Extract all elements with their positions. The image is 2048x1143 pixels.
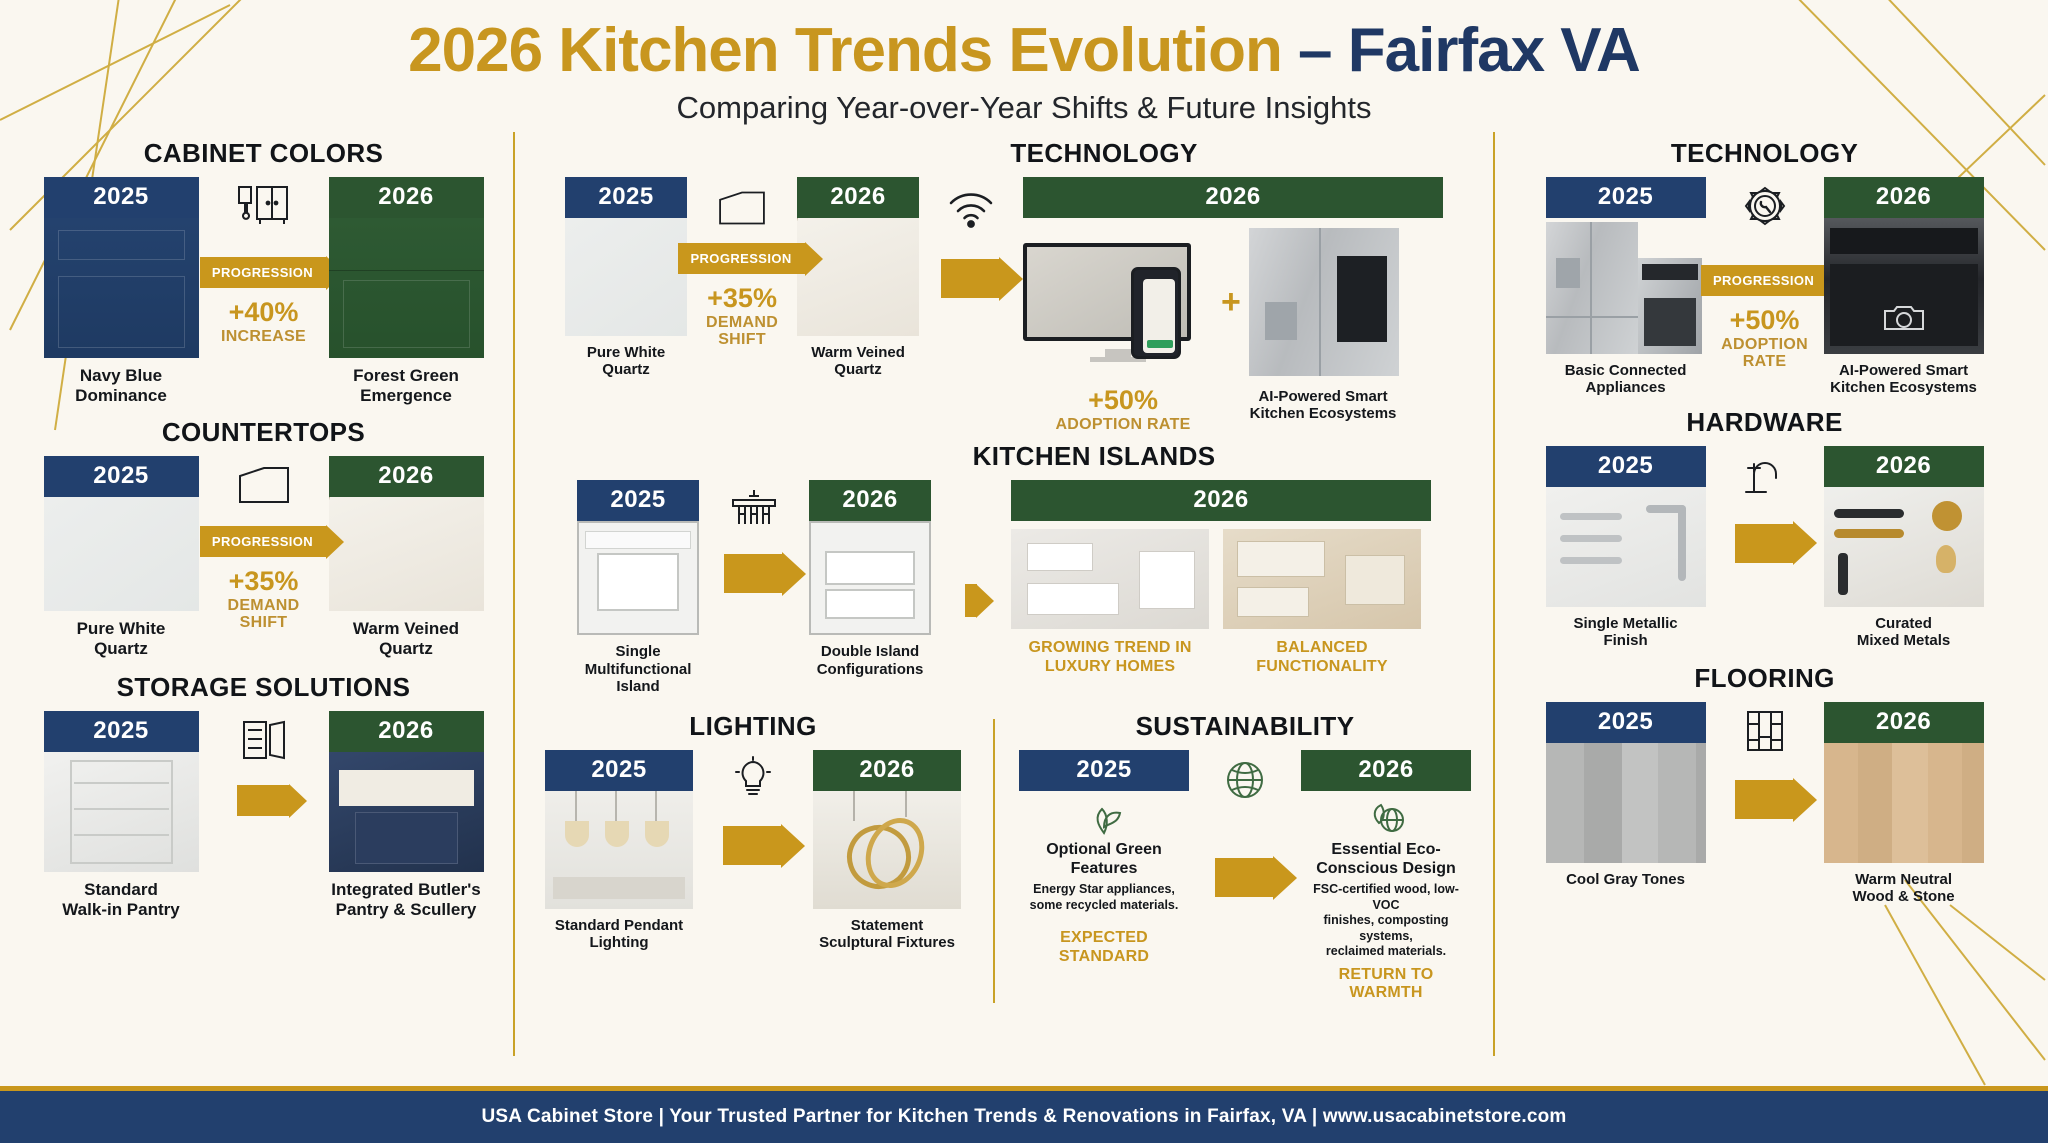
year-chip-2026: 2026 — [1023, 177, 1443, 218]
lighting-2025-panel: 2025 Standard Pendan — [545, 750, 693, 952]
lighting-2026-panel: 2026 Statement Sculptural Fixtures — [813, 750, 961, 952]
year-chip-2026: 2026 — [329, 456, 484, 497]
sustainability-2026-detail: FSC-certified wood, low-VOC finishes, co… — [1301, 882, 1471, 960]
island-2026-wide-panel: 2026 — [1011, 480, 1431, 676]
navy-cabinet-swatch — [44, 218, 199, 358]
progression-arrow-plain — [723, 826, 783, 865]
section-title-flooring: FLOORING — [1503, 663, 2026, 694]
section-title-kitchen-islands: KITCHEN ISLANDS — [703, 441, 1485, 472]
island-2026-panel: 2026 Double Island Configurations — [809, 480, 931, 678]
pure-white-quartz-swatch — [44, 497, 199, 611]
lighting-2025-caption: Standard Pendant Lighting — [545, 917, 693, 952]
countertop-slab-icon — [714, 177, 770, 229]
cabinet-2025-caption: Navy Blue Dominance — [44, 366, 199, 405]
year-chip-2026: 2026 — [1824, 702, 1984, 743]
storage-2025-caption: Standard Walk-in Pantry — [44, 880, 199, 919]
page-title-location: – Fairfax VA — [1298, 16, 1640, 85]
section-lighting: LIGHTING 2025 — [523, 705, 983, 1003]
page-title-main: 2026 Kitchen Trends Evolution — [408, 16, 1298, 85]
hardware-2026-caption: Curated Mixed Metals — [1824, 615, 1984, 650]
column-left: CABINET COLORS 2025 Navy Blue Dominance — [14, 132, 513, 1056]
section-title-technology-middle: TECHNOLOGY — [723, 138, 1485, 169]
section-title-technology-right: TECHNOLOGY — [1503, 138, 2026, 169]
storage-progression — [199, 711, 329, 816]
row-lighting-sustainability: LIGHTING 2025 — [523, 705, 1485, 1003]
tech-right-2026-panel: 2026 AI-Powered Smart — [1824, 177, 1984, 397]
hardware-2025-caption: Single Metallic Finish — [1546, 615, 1706, 650]
footer-text: USA Cabinet Store | Your Trusted Partner… — [482, 1106, 1567, 1128]
storage-2025-panel: 2025 Standard Walk-in Pantry — [44, 711, 199, 919]
tech-mid-2026b-caption: AI-Powered Smart Kitchen Ecosystems — [1223, 388, 1423, 433]
cabinet-progression: PROGRESSION +40% INCREASE — [199, 177, 329, 345]
plus-sign: + — [1221, 285, 1241, 319]
countertop-2026-panel: 2026 Warm Veined Quartz — [329, 456, 484, 658]
year-chip-2026: 2026 — [813, 750, 961, 791]
tech-right-2026-caption: AI-Powered Smart Kitchen Ecosystems — [1824, 362, 1984, 397]
island-progression-1 — [699, 480, 809, 593]
tech-right-progression: PROGRESSION +50% ADOPTION RATE — [1706, 177, 1824, 371]
leaf-globe-icon — [1301, 801, 1471, 835]
progression-arrow-plain — [237, 785, 289, 816]
warm-veined-quartz-swatch — [329, 497, 484, 611]
section-title-hardware: HARDWARE — [1503, 407, 2026, 438]
progression-arrow: PROGRESSION — [200, 526, 327, 557]
tech-mid-2026b-panel: 2026 + — [1023, 177, 1443, 433]
section-technology-middle: TECHNOLOGY 2025 Pure White Quartz — [523, 138, 1485, 433]
section-flooring: FLOORING 2025 Cool Gray Tones — [1503, 663, 2026, 906]
leaf-icon — [1019, 801, 1189, 835]
pantry-door-icon — [238, 711, 290, 763]
progression-arrow: PROGRESSION — [678, 243, 805, 274]
tech-right-2025-caption: Basic Connected Appliances — [1546, 362, 1706, 397]
section-title-sustainability: SUSTAINABILITY — [1005, 711, 1485, 742]
butlers-pantry-image — [329, 752, 484, 872]
sculptural-fixture-image — [813, 791, 961, 909]
sustainability-2025-panel: 2025 Optional Green Features — [1019, 750, 1189, 966]
lightbulb-icon — [730, 750, 776, 802]
tech-mid-adoption-stat: +50% ADOPTION RATE — [1023, 386, 1223, 433]
storage-2026-panel: 2026 Integrated Butler's Pantry & Sculle… — [329, 711, 484, 919]
hardware-2026-panel: 2026 Curated Mixed Metals — [1824, 446, 1984, 650]
range-oven-image — [1638, 258, 1702, 354]
tech-mid-2026a-caption: Warm Veined Quartz — [797, 344, 919, 379]
countertop-2025-caption: Pure White Quartz — [44, 619, 199, 658]
luxury-kitchen-render-b — [1223, 529, 1421, 629]
flooring-2025-caption: Cool Gray Tones — [1546, 871, 1706, 888]
infographic-body: CABINET COLORS 2025 Navy Blue Dominance — [0, 126, 2048, 1056]
hardware-2025-panel: 2025 Single Metallic Finish — [1546, 446, 1706, 650]
year-chip-2025: 2025 — [545, 750, 693, 791]
year-chip-2025: 2025 — [1546, 446, 1706, 487]
section-hardware: HARDWARE 2025 Single Metallic — [1503, 407, 2026, 650]
column-middle: TECHNOLOGY 2025 Pure White Quartz — [513, 132, 1495, 1056]
year-chip-2025: 2025 — [44, 711, 199, 752]
progression-arrow-plain — [724, 554, 784, 593]
tech-right-stat: +50% ADOPTION RATE — [1721, 306, 1808, 371]
lighting-progression — [693, 750, 813, 865]
smart-wall-oven-image — [1824, 218, 1984, 354]
section-kitchen-islands: KITCHEN ISLANDS 2025 Single Multifunctio… — [523, 441, 1485, 695]
sustainability-2025-detail: Energy Star appliances, some recycled ma… — [1019, 882, 1189, 913]
progression-arrow: PROGRESSION — [1701, 265, 1828, 296]
flooring-2025-panel: 2025 Cool Gray Tones — [1546, 702, 1706, 888]
cabinet-2026-panel: 2026 Forest Green Emergence — [329, 177, 484, 405]
progression-arrow: PROGRESSION — [200, 257, 327, 288]
warm-veined-quartz-swatch — [797, 218, 919, 336]
year-chip-2026: 2026 — [1301, 750, 1471, 791]
countertop-progression: PROGRESSION +35% DEMAND SHIFT — [199, 456, 329, 632]
year-chip-2026: 2026 — [329, 177, 484, 218]
column-right: TECHNOLOGY 2025 — [1495, 132, 2034, 1056]
smart-fridge-image — [1249, 228, 1399, 376]
luxury-kitchen-render-a — [1011, 529, 1209, 629]
tech-mid-progression-1: PROGRESSION +35% DEMAND SHIFT — [687, 177, 797, 349]
paintbrush-cabinet-icon — [235, 177, 293, 229]
year-chip-2025: 2025 — [565, 177, 687, 218]
year-chip-2025: 2025 — [1546, 177, 1706, 218]
page-title: 2026 Kitchen Trends Evolution – Fairfax … — [0, 18, 2048, 83]
year-chip-2025: 2025 — [44, 456, 199, 497]
year-chip-2026: 2026 — [1011, 480, 1431, 521]
walk-in-pantry-image — [44, 752, 199, 872]
pure-white-quartz-swatch — [565, 218, 687, 336]
year-chip-2026: 2026 — [1824, 177, 1984, 218]
progression-arrow-plain — [1215, 858, 1275, 897]
island-2026-caption: Double Island Configurations — [809, 643, 931, 678]
faucet-icon — [1742, 446, 1788, 498]
countertop-slab-icon — [234, 456, 294, 508]
section-cabinet-colors: CABINET COLORS 2025 Navy Blue Dominance — [22, 138, 505, 405]
section-countertops: COUNTERTOPS 2025 Pure White Quartz — [22, 417, 505, 658]
island-panel-a-caption: GROWING TREND IN LUXURY HOMES — [1011, 639, 1209, 676]
countertop-2025-panel: 2025 Pure White Quartz — [44, 456, 199, 658]
sustainability-2026-tag: RETURN TO WARMTH — [1301, 966, 1471, 1003]
gear-wrench-icon — [1741, 177, 1789, 229]
section-title-countertops: COUNTERTOPS — [22, 417, 505, 448]
camera-icon — [1882, 302, 1926, 339]
year-chip-2026: 2026 — [797, 177, 919, 218]
globe-icon — [1223, 750, 1267, 802]
storage-2026-caption: Integrated Butler's Pantry & Scullery — [329, 880, 484, 919]
single-metallic-hardware-image — [1546, 487, 1706, 607]
single-island-floorplan — [577, 521, 699, 635]
sustainability-2025-tag: EXPECTED STANDARD — [1019, 929, 1189, 966]
island-2025-panel: 2025 Single Multifunctional Island — [577, 480, 699, 695]
mixed-metals-hardware-image — [1824, 487, 1984, 607]
tech-mid-2026a-panel: 2026 Warm Veined Quartz — [797, 177, 919, 379]
countertop-stat: +35% DEMAND SHIFT — [227, 567, 299, 632]
footer-bar: USA Cabinet Store | Your Trusted Partner… — [0, 1086, 2048, 1143]
section-technology-right: TECHNOLOGY 2025 — [1503, 138, 2026, 397]
double-island-floorplan — [809, 521, 931, 635]
tech-mid-progression-2 — [919, 177, 1023, 298]
island-2025-caption: Single Multifunctional Island — [577, 643, 699, 695]
section-sustainability: SUSTAINABILITY 2025 Optional — [1005, 705, 1485, 1003]
sustainability-progression — [1189, 750, 1301, 897]
section-storage-solutions: STORAGE SOLUTIONS 2025 Standard Walk-in … — [22, 672, 505, 919]
tech-mid-2025-panel: 2025 Pure White Quartz — [565, 177, 687, 379]
sustainability-2026-title: Essential Eco- Conscious Design — [1301, 841, 1471, 878]
hardware-progression — [1706, 446, 1824, 563]
section-title-cabinet-colors: CABINET COLORS — [22, 138, 505, 169]
countertop-2026-caption: Warm Veined Quartz — [329, 619, 484, 658]
sustainability-2026-panel: 2026 Essential Eco- — [1301, 750, 1471, 1003]
infographic-header: 2026 Kitchen Trends Evolution – Fairfax … — [0, 0, 2048, 126]
tech-mid-shift-stat: +35% DEMAND SHIFT — [706, 284, 778, 349]
year-chip-2025: 2025 — [1019, 750, 1189, 791]
standard-pendant-image — [545, 791, 693, 909]
sustainability-2025-title: Optional Green Features — [1019, 841, 1189, 878]
warm-wood-floor-swatch — [1824, 743, 1984, 863]
smart-display-and-phone-image — [1023, 243, 1213, 362]
plank-floor-icon — [1743, 702, 1787, 754]
tech-mid-2025-caption: Pure White Quartz — [565, 344, 687, 379]
year-chip-2025: 2025 — [577, 480, 699, 521]
forest-green-cabinet-swatch — [329, 218, 484, 358]
page-subtitle: Comparing Year-over-Year Shifts & Future… — [0, 90, 2048, 126]
island-panel-b-caption: BALANCED FUNCTIONALITY — [1223, 639, 1421, 676]
section-title-lighting: LIGHTING — [523, 711, 983, 742]
flooring-progression — [1706, 702, 1824, 819]
lighting-2026-caption: Statement Sculptural Fixtures — [813, 917, 961, 952]
year-chip-2025: 2025 — [1546, 702, 1706, 743]
flooring-2026-caption: Warm Neutral Wood & Stone — [1824, 871, 1984, 906]
progression-arrow-plain — [1735, 524, 1795, 563]
year-chip-2026: 2026 — [809, 480, 931, 521]
year-chip-2026: 2026 — [1824, 446, 1984, 487]
flooring-2026-panel: 2026 Warm Neutral Wood & Stone — [1824, 702, 1984, 906]
column-divider — [993, 719, 995, 1003]
wifi-icon — [945, 177, 997, 229]
island-progression-2 — [931, 480, 1011, 617]
island-stools-icon — [725, 480, 783, 532]
cabinet-2026-caption: Forest Green Emergence — [329, 366, 484, 405]
tech-right-2025-panel: 2025 — [1546, 177, 1706, 397]
cabinet-stat: +40% INCREASE — [221, 298, 306, 345]
section-title-storage-solutions: STORAGE SOLUTIONS — [22, 672, 505, 703]
connected-fridge-image — [1546, 222, 1638, 354]
year-chip-2026: 2026 — [329, 711, 484, 752]
year-chip-2025: 2025 — [44, 177, 199, 218]
cool-gray-floor-swatch — [1546, 743, 1706, 863]
progression-arrow-plain — [1735, 780, 1795, 819]
progression-arrow-plain — [941, 259, 1001, 298]
cabinet-2025-panel: 2025 Navy Blue Dominance — [44, 177, 199, 405]
progression-arrow-plain — [965, 584, 977, 617]
